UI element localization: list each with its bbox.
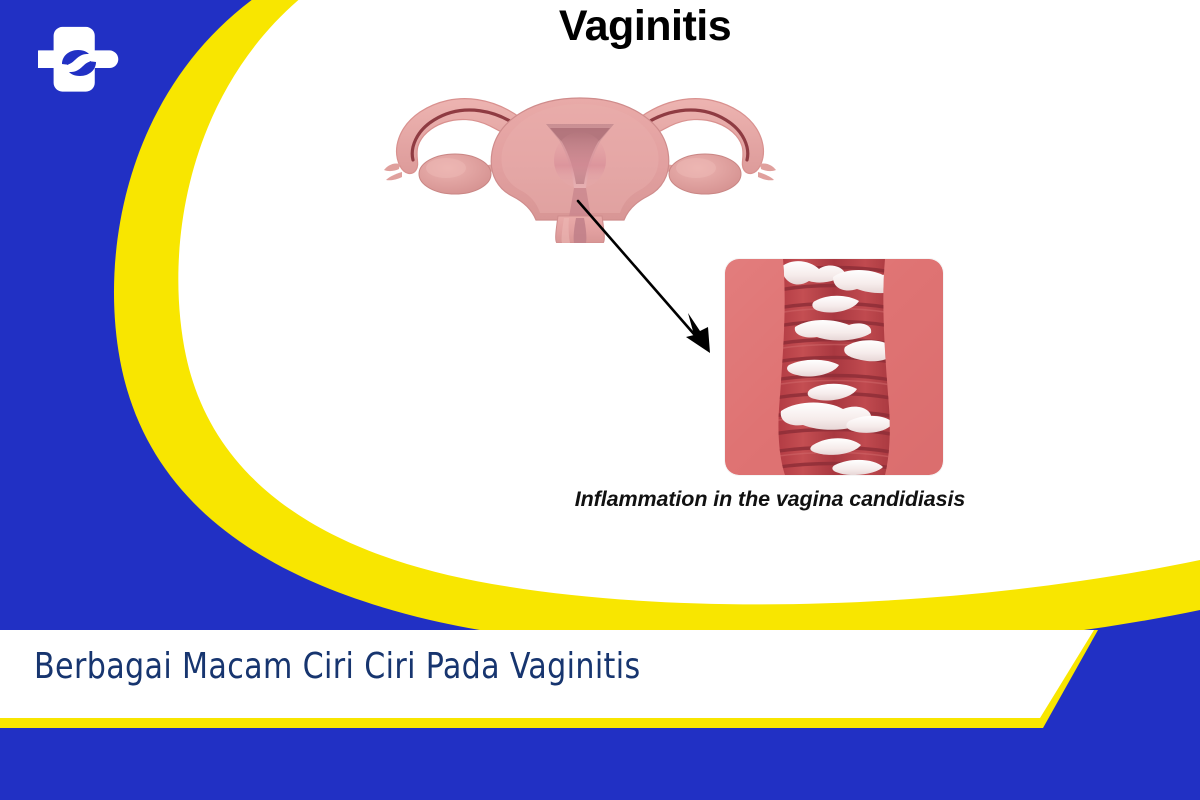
arrow-line <box>578 201 700 341</box>
page-title: Vaginitis <box>0 2 1200 51</box>
medical-cross-logo[interactable] <box>38 22 120 104</box>
cross-icon <box>38 27 118 92</box>
banner-title: Berbagai Macam Ciri Ciri Pada Vaginitis <box>34 646 641 687</box>
vaginal-canal-candidiasis-inset <box>725 259 943 475</box>
pointer-arrow <box>560 185 750 375</box>
arrow-head <box>686 313 710 353</box>
bottom-banner: Berbagai Macam Ciri Ciri Pada Vaginitis <box>0 630 1200 735</box>
inset-caption: Inflammation in the vagina candidiasis <box>460 487 1080 512</box>
infographic-canvas: Vaginitis <box>0 0 1200 800</box>
